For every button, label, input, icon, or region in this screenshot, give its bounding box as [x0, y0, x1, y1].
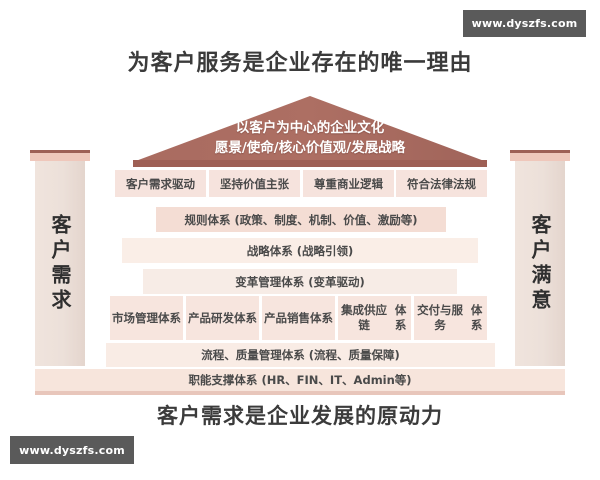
- diagram-canvas: www.dyszfs.com 为客户服务是企业存在的唯一理由 以客户为中心的企业…: [0, 0, 600, 480]
- left-pillar-capital: [30, 150, 90, 161]
- watermark-top: www.dyszfs.com: [463, 10, 586, 37]
- left-pillar-label: 客户需求: [50, 214, 70, 314]
- principle-box: 坚持价值主张: [209, 170, 300, 197]
- right-pillar: 客户满意: [515, 161, 565, 366]
- page-title-bottom: 客户需求是企业发展的原动力: [0, 400, 600, 430]
- principle-box: 客户需求驱动: [115, 170, 206, 197]
- value-chain-box: 产品研发体系: [186, 296, 259, 340]
- value-chain-box: 交付与服务体系: [414, 296, 487, 340]
- change-management-bar: 变革管理体系 (变革驱动): [143, 269, 457, 294]
- roof-triangle-icon: [133, 96, 487, 166]
- right-pillar-capital: [510, 150, 570, 161]
- left-pillar: 客户需求: [35, 161, 85, 366]
- support-foundation-bar: 职能支撑体系 (HR、FIN、IT、Admin等): [35, 369, 565, 395]
- principle-box: 尊重商业逻辑: [303, 170, 394, 197]
- roof-pediment: 以客户为中心的企业文化 愿景/使命/核心价值观/发展战略: [133, 96, 487, 166]
- watermark-bottom: www.dyszfs.com: [10, 436, 134, 464]
- page-title-top: 为客户服务是企业存在的唯一理由: [0, 45, 600, 77]
- strategy-system-bar: 战略体系 (战略引领): [122, 238, 478, 263]
- roof-base-band: [133, 160, 487, 167]
- process-quality-bar: 流程、质量管理体系 (流程、质量保障): [106, 343, 495, 367]
- value-chain-box: 产品销售体系: [262, 296, 335, 340]
- value-chain-box: 集成供应链体系: [338, 296, 411, 340]
- value-chain-box: 市场管理体系: [110, 296, 183, 340]
- principle-box: 符合法律法规: [396, 170, 487, 197]
- right-pillar-label: 客户满意: [530, 214, 550, 314]
- rules-system-bar: 规则体系 (政策、制度、机制、价值、激励等): [156, 207, 446, 232]
